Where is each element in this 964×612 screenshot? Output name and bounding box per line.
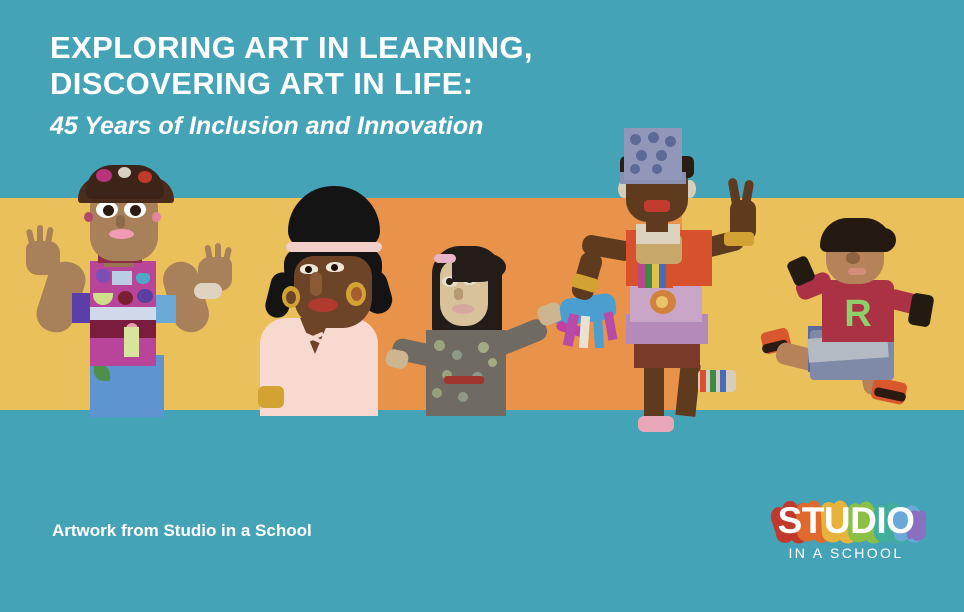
- figure2-right-earring-inner: [351, 287, 362, 301]
- logo-tagline-text: IN A SCHOOL: [766, 545, 926, 561]
- figure1-pants-patch: [94, 365, 110, 381]
- figure4-headdress-dot-4: [636, 150, 647, 161]
- figure2-left-pupil: [305, 266, 312, 273]
- figure4-held-object-2: [579, 316, 590, 349]
- figure1-right-cheek: [152, 212, 161, 222]
- figure4-headdress-dot-7: [652, 164, 662, 174]
- figure3-dress-motif-6: [488, 358, 497, 367]
- figure1-shirt-pocket: [124, 327, 139, 357]
- figure1-shirt-shape-3: [136, 273, 150, 284]
- page-subtitle: 45 Years of Inclusion and Innovation: [50, 110, 750, 142]
- figure3-nose: [454, 288, 463, 300]
- figure1-shirt-shape-5: [118, 291, 133, 305]
- figure1-shirt-shape-6: [137, 289, 153, 303]
- figure1-shirt-shape-1: [96, 269, 110, 283]
- figure1-shirt-stripe-light: [90, 307, 156, 320]
- figure4-right-shoe-stripe-2: [710, 370, 716, 392]
- figure2-right-pupil: [331, 264, 338, 271]
- figure4-headdress-dot-6: [630, 164, 640, 174]
- figure3-hair-clip: [434, 254, 456, 263]
- figure1-hair-ornament-2: [118, 167, 131, 178]
- page-title-line-2: DISCOVERING ART IN LIFE:: [50, 66, 750, 102]
- figure1-left-pupil: [103, 205, 114, 216]
- figure2-updo-hair: [288, 186, 380, 248]
- figure5-nose: [846, 252, 860, 264]
- figure3-dress-motif-8: [458, 392, 468, 402]
- figure3-dress-script: [444, 376, 484, 384]
- presentation-slide: R EXPLORING ART IN LEARNING, DISCOVERING…: [0, 0, 964, 612]
- figure1-left-cheek: [84, 212, 93, 222]
- figure1-shirt-shape-2: [112, 271, 132, 285]
- figure4-left-shoe: [638, 416, 674, 432]
- logo-wordmark-text: STUDIO: [766, 498, 926, 544]
- figure2-left-earring-inner: [286, 291, 296, 304]
- figure5-hair-curl: [872, 228, 896, 252]
- figure4-skirt-flower-center: [656, 296, 668, 308]
- figure5-mouth: [848, 268, 866, 275]
- figure4-headdress-dot-5: [656, 150, 667, 161]
- headline-block: EXPLORING ART IN LEARNING, DISCOVERING A…: [50, 30, 750, 142]
- figure5-shirt-letter: R: [822, 292, 894, 336]
- figure4-right-cuff: [724, 232, 754, 246]
- figure4-right-leg: [675, 363, 700, 417]
- studio-in-a-school-logo: STUDIO IN A SCHOOL: [766, 496, 926, 576]
- figure4-held-object-3: [593, 316, 604, 349]
- artwork-figure-tall-headdress: [560, 128, 770, 428]
- figure1-left-hand: [26, 241, 60, 275]
- figure2-lips: [308, 298, 338, 312]
- artwork-credit-caption: Artwork from Studio in a School: [52, 521, 312, 541]
- artwork-figure-child-arms-raised: [18, 165, 248, 415]
- figure3-dress-motif-3: [478, 342, 489, 353]
- figure3-dress-motif-2: [452, 350, 462, 360]
- figure3-lips: [452, 304, 474, 314]
- figure3-hair-swoop: [452, 252, 506, 282]
- artwork-figure-arms-outstretched: [386, 246, 586, 416]
- figure1-shirt-stripe-dark: [90, 320, 156, 338]
- figure1-right-pupil: [130, 205, 141, 216]
- figure4-held-object-4: [604, 311, 618, 340]
- page-title-line-1: EXPLORING ART IN LEARNING,: [50, 30, 750, 66]
- figure1-bracelet: [194, 283, 222, 299]
- figure1-hair-ornament-1: [96, 169, 112, 182]
- figure5-right-hand: [907, 292, 934, 327]
- figure2-headband: [286, 242, 382, 252]
- figure4-mouth: [644, 200, 670, 212]
- figure2-nose: [310, 272, 322, 296]
- figure4-right-shoe-stripe-1: [700, 370, 706, 392]
- figure1-mouth: [109, 229, 134, 239]
- figure2-gold-cuff: [258, 386, 284, 408]
- figure3-dress-motif-7: [432, 388, 442, 398]
- figure4-right-shoe-stripe-3: [720, 370, 726, 392]
- artwork-figure-running-boy: R: [762, 218, 947, 413]
- figure1-nose: [116, 215, 125, 228]
- figure3-dress-motif-1: [434, 340, 445, 351]
- figure1-hair-ornament-3: [138, 171, 152, 183]
